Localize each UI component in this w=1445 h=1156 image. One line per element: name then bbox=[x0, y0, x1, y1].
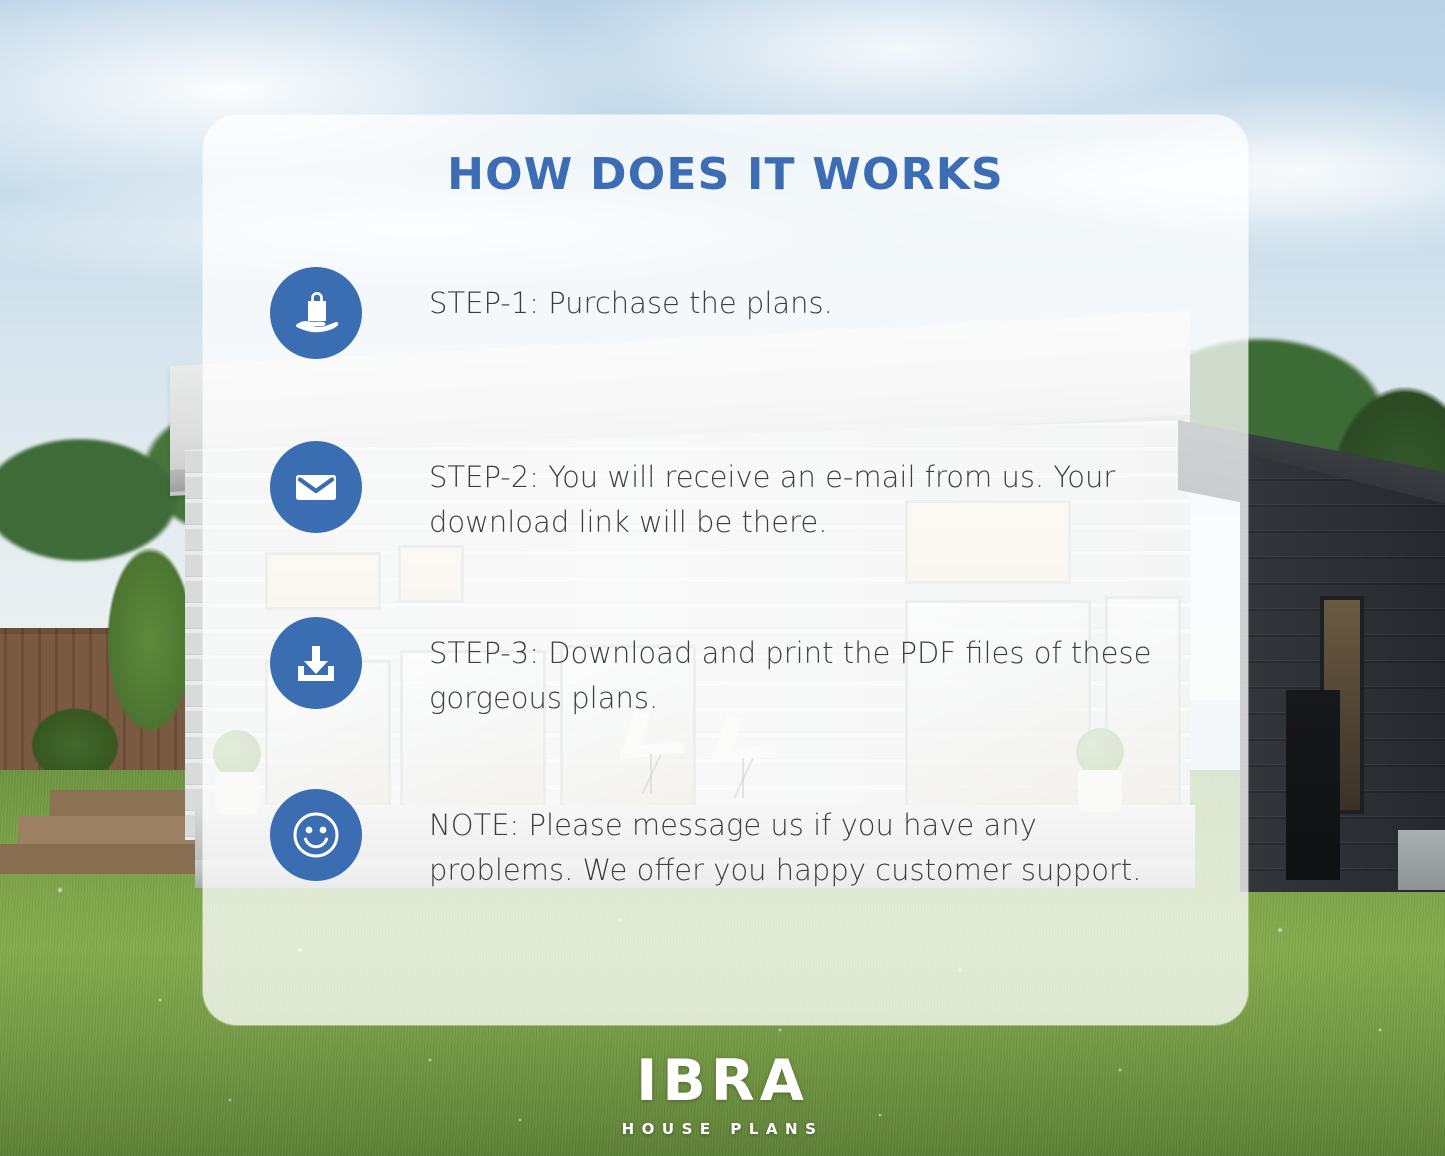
envelope-icon bbox=[270, 441, 362, 533]
logo-tagline: HOUSE PLANS bbox=[0, 1120, 1445, 1138]
shopping-bag-in-hand-icon bbox=[270, 267, 362, 359]
step-text: STEP-3: Download and print the PDF files… bbox=[429, 617, 1178, 721]
note-text: NOTE: Please message us if you have any … bbox=[429, 789, 1178, 893]
step-text: STEP-2: You will receive an e-mail from … bbox=[429, 441, 1178, 545]
dark-wing-patio bbox=[1398, 830, 1445, 890]
logo-name: IBRA bbox=[0, 1053, 1445, 1110]
steps-list: STEP-1: Purchase the plans. STEP-2: You … bbox=[203, 267, 1248, 907]
list-item-step-2: STEP-2: You will receive an e-mail from … bbox=[203, 441, 1248, 559]
download-icon bbox=[270, 617, 362, 709]
screenshot-root: HOW DOES IT WORKS STEP-1: Purchase the p… bbox=[0, 0, 1445, 1156]
page-title: HOW DOES IT WORKS bbox=[203, 149, 1248, 200]
smiley-face-icon bbox=[270, 789, 362, 881]
instructions-panel: HOW DOES IT WORKS STEP-1: Purchase the p… bbox=[203, 115, 1248, 1025]
brand-logo: IBRA HOUSE PLANS bbox=[0, 1053, 1445, 1138]
list-item-step-3: STEP-3: Download and print the PDF files… bbox=[203, 617, 1248, 735]
step-text: STEP-1: Purchase the plans. bbox=[429, 267, 833, 326]
dark-wing-door bbox=[1286, 690, 1340, 880]
list-item-note: NOTE: Please message us if you have any … bbox=[203, 789, 1248, 907]
list-item-step-1: STEP-1: Purchase the plans. bbox=[203, 267, 1248, 385]
